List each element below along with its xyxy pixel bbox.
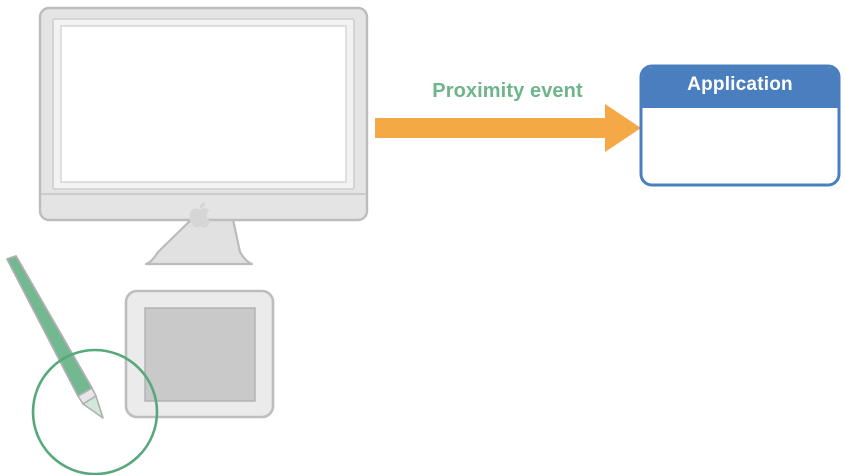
- proximity-event-arrow: [375, 104, 641, 152]
- stylus-body: [7, 256, 92, 396]
- imac-display: [40, 8, 367, 264]
- application-box-header: [643, 68, 838, 109]
- proximity-event-diagram: Proximity event Application: [0, 0, 845, 475]
- monitor-screen: [61, 26, 346, 182]
- arrow-shape: [375, 104, 641, 152]
- application-box[interactable]: [641, 66, 839, 185]
- graphics-tablet: [126, 291, 273, 417]
- tablet-active-area: [145, 308, 255, 401]
- stylus-pen: [7, 256, 103, 418]
- diagram-canvas: [0, 0, 845, 475]
